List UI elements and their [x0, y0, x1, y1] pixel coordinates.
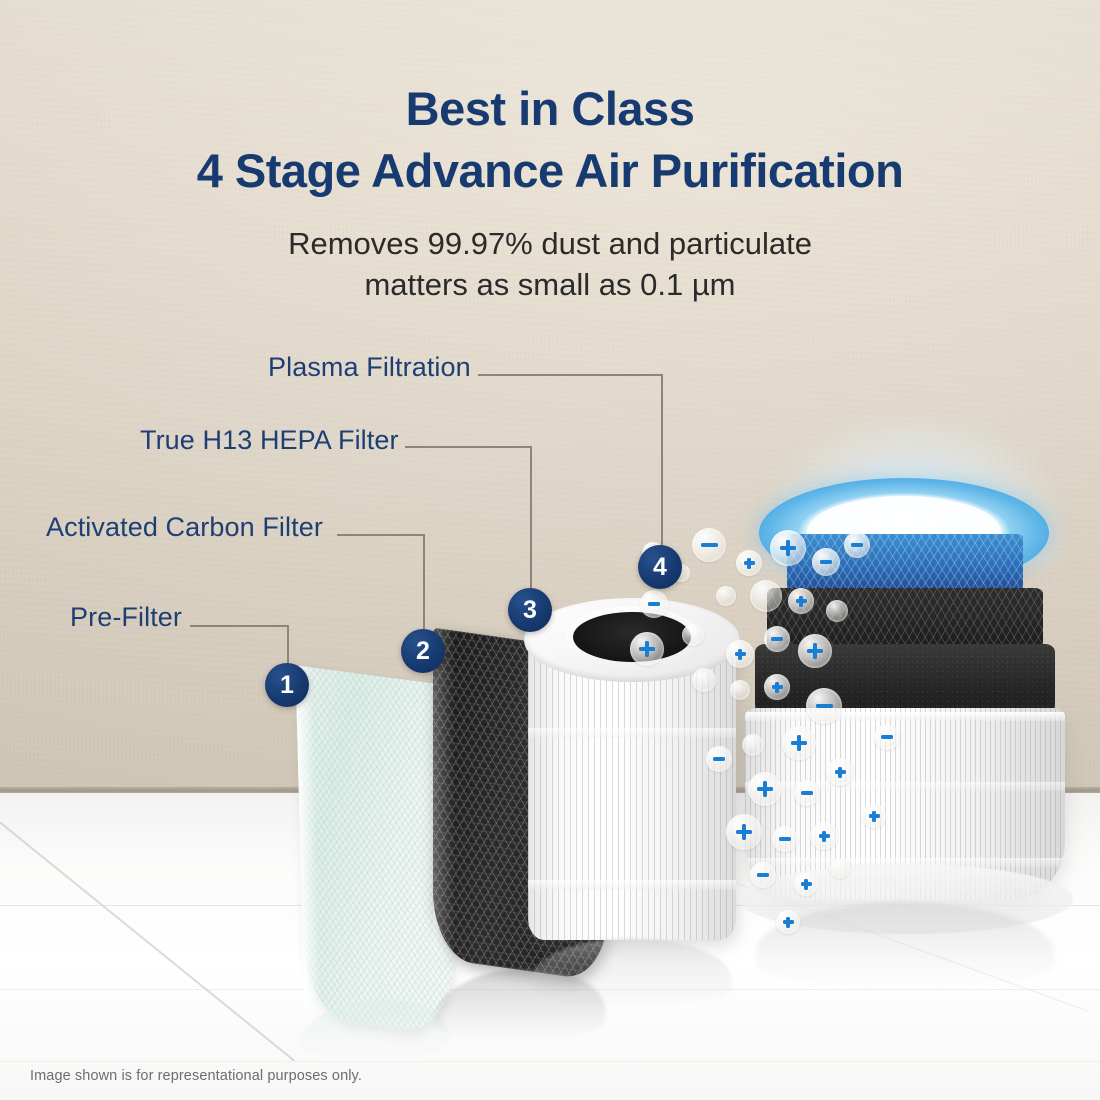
leader-line-plasma-horizontal [478, 374, 663, 376]
callout-badge-3: 3 [508, 588, 552, 632]
ion-bubble [826, 758, 854, 786]
ion-bubble [770, 530, 806, 566]
product-infographic: Best in Class 4 Stage Advance Air Purifi… [0, 0, 1100, 1100]
plasma-ion-cluster [630, 528, 950, 958]
ion-bubble-empty [826, 600, 848, 622]
callout-badge-4: 4 [638, 545, 682, 589]
ion-bubble [748, 772, 782, 806]
callout-badge-1: 1 [265, 663, 309, 707]
callout-label-activated-carbon-filter: Activated Carbon Filter [46, 512, 323, 543]
disclaimer-text: Image shown is for representational purp… [30, 1068, 362, 1084]
ion-bubble [874, 724, 900, 750]
ion-bubble [806, 688, 842, 724]
ion-bubble [794, 780, 820, 806]
ion-bubble [782, 726, 816, 760]
ion-bubble-empty [682, 624, 704, 646]
ion-bubble-empty [742, 734, 764, 756]
carbon-edge-highlight [433, 628, 455, 961]
ion-bubble [736, 550, 762, 576]
leader-line-carbon-vertical [423, 534, 425, 637]
callout-badge-2: 2 [401, 629, 445, 673]
ion-bubble [764, 626, 790, 652]
ion-bubble [764, 674, 790, 700]
ion-bubble-empty [750, 580, 782, 612]
ion-bubble [726, 640, 754, 668]
ion-bubble [812, 548, 840, 576]
ion-bubble [630, 632, 664, 666]
page-title-line2: 4 Stage Advance Air Purification [0, 146, 1100, 196]
leader-line-prefilter-horizontal [190, 625, 288, 627]
ion-bubble [726, 814, 762, 850]
ion-bubble-empty [716, 586, 736, 606]
ion-bubble [750, 862, 776, 888]
ion-bubble [844, 532, 870, 558]
leader-line-plasma-vertical [661, 374, 663, 554]
ion-bubble [798, 634, 832, 668]
leader-line-hepa-vertical [530, 446, 532, 596]
ion-bubble [706, 746, 732, 772]
ion-bubble [862, 804, 886, 828]
ion-bubble [772, 826, 798, 852]
ion-bubble [692, 528, 726, 562]
callout-label-plasma-filtration: Plasma Filtration [268, 352, 471, 383]
subtitle-line1: Removes 99.97% dust and particulate [0, 223, 1100, 264]
ion-bubble [810, 822, 838, 850]
callout-label-hepa-filter: True H13 HEPA Filter [140, 425, 399, 456]
ion-bubble-empty [692, 668, 716, 692]
ion-bubble [788, 588, 814, 614]
callout-label-pre-filter: Pre-Filter [70, 602, 182, 633]
ion-bubble [794, 872, 818, 896]
page-title-line1: Best in Class [0, 84, 1100, 134]
ion-bubble [640, 590, 668, 618]
ion-bubble [776, 910, 800, 934]
ion-bubble-empty [730, 680, 750, 700]
leader-line-carbon-horizontal [337, 534, 424, 536]
ion-bubble-empty [830, 858, 850, 878]
subtitle-line2: matters as small as 0.1 µm [0, 264, 1100, 305]
leader-line-hepa-horizontal [405, 446, 531, 448]
